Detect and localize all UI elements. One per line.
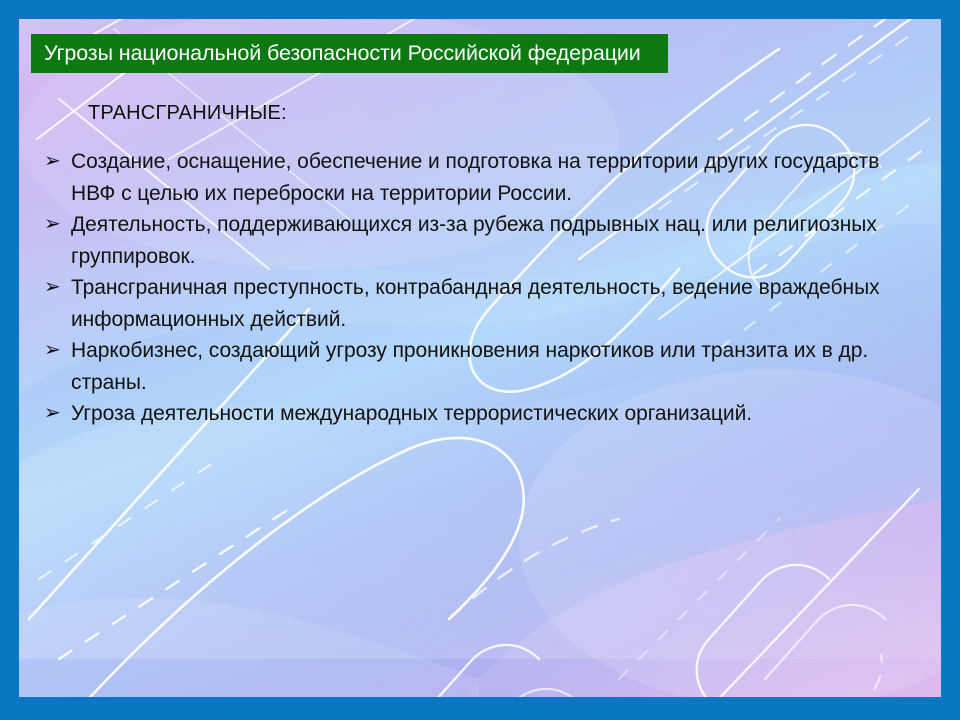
list-item: ➢ Трансграничная преступность, контрабан… bbox=[44, 272, 914, 335]
bullet-list: ➢ Создание, оснащение, обеспечение и под… bbox=[44, 146, 914, 430]
list-item-label: Наркобизнес, создающий угрозу проникнове… bbox=[71, 335, 914, 398]
arrow-bullet-icon: ➢ bbox=[44, 209, 71, 241]
presentation-slide: Угрозы национальной безопасности Российс… bbox=[0, 0, 960, 720]
list-item-label: Создание, оснащение, обеспечение и подго… bbox=[71, 146, 914, 209]
list-item: ➢ Создание, оснащение, обеспечение и под… bbox=[44, 146, 914, 209]
frame-border-left bbox=[0, 0, 19, 720]
arrow-bullet-icon: ➢ bbox=[44, 272, 71, 304]
arrow-bullet-icon: ➢ bbox=[44, 398, 71, 430]
page-title: Угрозы национальной безопасности Российс… bbox=[44, 43, 641, 65]
list-item-label: Деятельность, поддерживающихся из-за руб… bbox=[71, 209, 914, 272]
list-item: ➢ Наркобизнес, создающий угрозу проникно… bbox=[44, 335, 914, 398]
frame-border-top bbox=[0, 0, 960, 19]
slide-title-banner: Угрозы национальной безопасности Российс… bbox=[31, 34, 668, 73]
frame-border-bottom bbox=[0, 697, 960, 720]
list-item: ➢ Деятельность, поддерживающихся из-за р… bbox=[44, 209, 914, 272]
frame-border-right bbox=[941, 0, 960, 720]
list-item-label: Трансграничная преступность, контрабандн… bbox=[71, 272, 914, 335]
arrow-bullet-icon: ➢ bbox=[44, 146, 71, 178]
list-item-label: Угроза деятельности международных террор… bbox=[71, 398, 914, 430]
list-item: ➢ Угроза деятельности международных терр… bbox=[44, 398, 914, 430]
arrow-bullet-icon: ➢ bbox=[44, 335, 71, 367]
section-subtitle: ТРАНСГРАНИЧНЫЕ: bbox=[88, 102, 287, 125]
